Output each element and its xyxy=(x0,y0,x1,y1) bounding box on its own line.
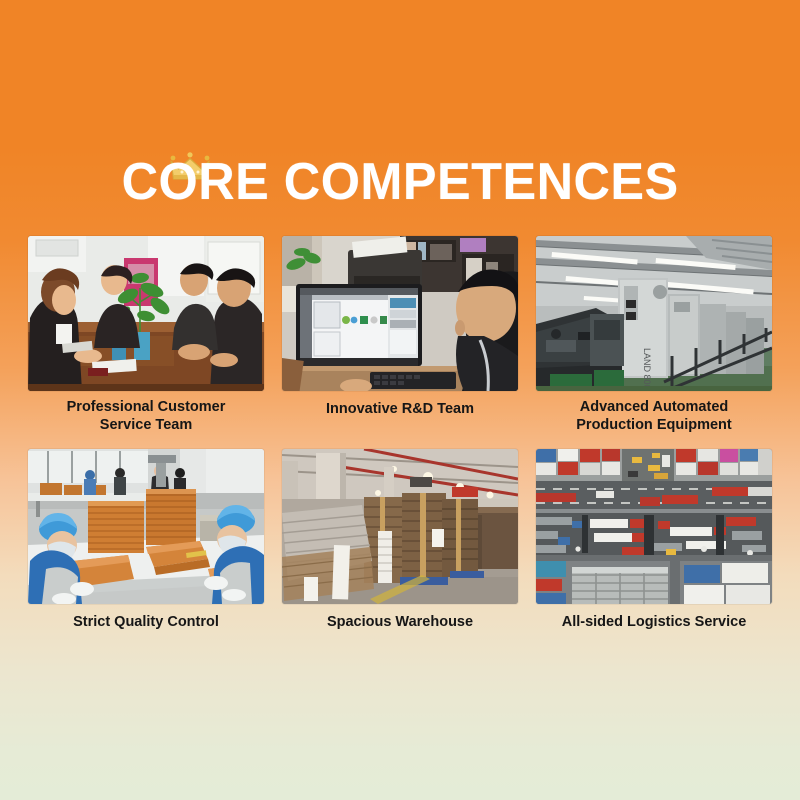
card-caption: Spacious Warehouse xyxy=(282,612,518,632)
card-caption: Strict Quality Control xyxy=(28,612,264,632)
caption-line: Production Equipment xyxy=(576,416,731,434)
card-innovative-rd-team[interactable]: Innovative R&D Team xyxy=(282,236,518,436)
caption-line: Professional Customer xyxy=(67,398,226,416)
grid-row-2: Strict Quality Control xyxy=(28,449,772,632)
business-meeting-photo xyxy=(28,236,264,391)
caption-line: Spacious Warehouse xyxy=(327,613,473,631)
competence-grid: Professional Customer Service Team xyxy=(28,236,772,632)
card-advanced-automated-production-equipment[interactable]: LAND 800 xyxy=(536,236,772,436)
card-caption: All-sided Logistics Service xyxy=(536,612,772,632)
caption-line: Innovative R&D Team xyxy=(326,400,474,418)
caption-line: Strict Quality Control xyxy=(73,613,219,631)
page-title: CORE COMPETENCES xyxy=(121,150,678,214)
caption-line: Advanced Automated xyxy=(580,398,729,416)
card-caption: Innovative R&D Team xyxy=(282,398,518,436)
printing-press-machinery-photo: LAND 800 xyxy=(536,236,772,391)
card-caption: Advanced Automated Production Equipment xyxy=(536,398,772,436)
designer-at-computer-photo xyxy=(282,236,518,391)
core-competences-banner: CORE COMPETENCES xyxy=(0,0,800,800)
card-strict-quality-control[interactable]: Strict Quality Control xyxy=(28,449,264,632)
aerial-container-port-photo xyxy=(536,449,772,604)
caption-line: All-sided Logistics Service xyxy=(562,613,747,631)
title-block: CORE COMPETENCES xyxy=(0,150,800,214)
card-caption: Professional Customer Service Team xyxy=(28,398,264,436)
grid-row-1: Professional Customer Service Team xyxy=(28,236,772,436)
workers-inspecting-boxes-photo xyxy=(28,449,264,604)
card-all-sided-logistics-service[interactable]: All-sided Logistics Service xyxy=(536,449,772,632)
svg-text:LAND 800: LAND 800 xyxy=(642,348,652,390)
card-professional-customer-service-team[interactable]: Professional Customer Service Team xyxy=(28,236,264,436)
warehouse-pallets-photo xyxy=(282,449,518,604)
card-spacious-warehouse[interactable]: Spacious Warehouse xyxy=(282,449,518,632)
caption-line: Service Team xyxy=(100,416,192,434)
